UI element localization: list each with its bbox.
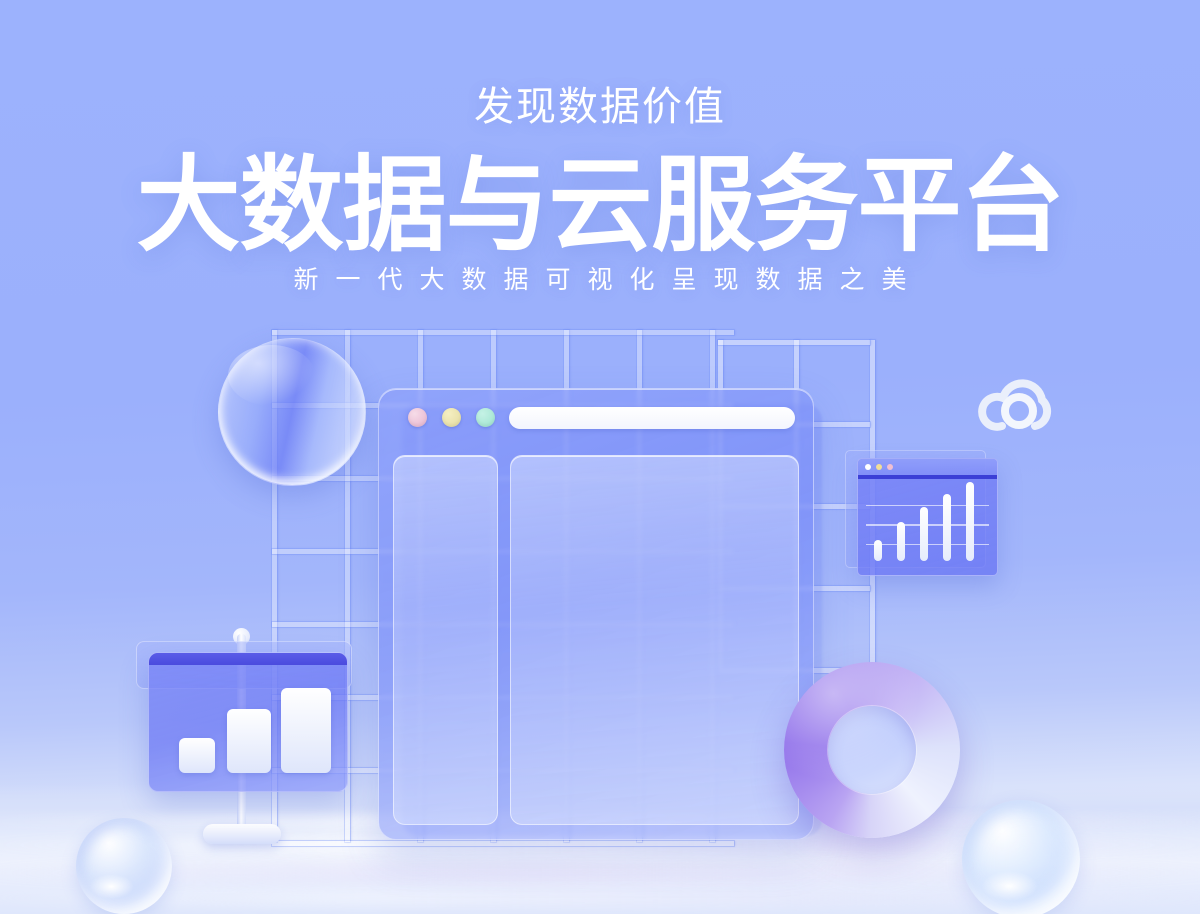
dot-pink-icon[interactable] (887, 464, 893, 470)
glass-sphere-left (76, 818, 172, 914)
mini-window-accent-line (858, 475, 997, 479)
maximize-dot-icon[interactable] (476, 408, 495, 427)
address-bar-input[interactable] (509, 407, 795, 429)
browser-window[interactable] (378, 388, 814, 840)
hero-tagline: 新一代大数据可视化呈现数据之美 (0, 266, 1200, 296)
dot-yellow-icon[interactable] (876, 464, 882, 470)
hero-eyebrow: 发现数据价值 (0, 84, 1200, 130)
cloud-outline-icon (976, 368, 1058, 432)
close-dot-icon[interactable] (408, 408, 427, 427)
lattice-line-horizontal (272, 330, 734, 335)
dot-white-icon[interactable] (865, 464, 871, 470)
sphere-highlight (981, 871, 1038, 902)
left-bar-chart-card[interactable] (148, 652, 348, 792)
bar (874, 540, 882, 561)
bar (897, 522, 905, 561)
page-title: 大数据与云服务平台 (0, 152, 1200, 260)
hero-text-block: 发现数据价值 大数据与云服务平台 新一代大数据可视化呈现数据之美 (0, 84, 1200, 296)
monitor-stand-base (203, 824, 281, 844)
bar (281, 688, 331, 773)
bar (966, 482, 974, 561)
chart-card-header (149, 653, 347, 665)
minimize-dot-icon[interactable] (442, 408, 461, 427)
bar (943, 494, 951, 561)
content-panel[interactable] (510, 455, 799, 825)
mini-chart-window[interactable] (857, 458, 998, 576)
glass-disc (218, 338, 366, 486)
sphere-highlight (89, 874, 133, 899)
lattice-line-horizontal (718, 340, 870, 345)
hero-banner: 发现数据价值 大数据与云服务平台 新一代大数据可视化呈现数据之美 (0, 0, 1200, 914)
browser-titlebar (379, 389, 813, 441)
sidebar-panel[interactable] (393, 455, 498, 825)
lattice-line-horizontal (272, 841, 734, 846)
bar (179, 738, 215, 773)
bar (920, 507, 928, 561)
bar (227, 709, 271, 773)
glass-torus (784, 662, 960, 838)
glass-sphere-right (962, 800, 1080, 914)
mini-window-titlebar (858, 459, 997, 475)
